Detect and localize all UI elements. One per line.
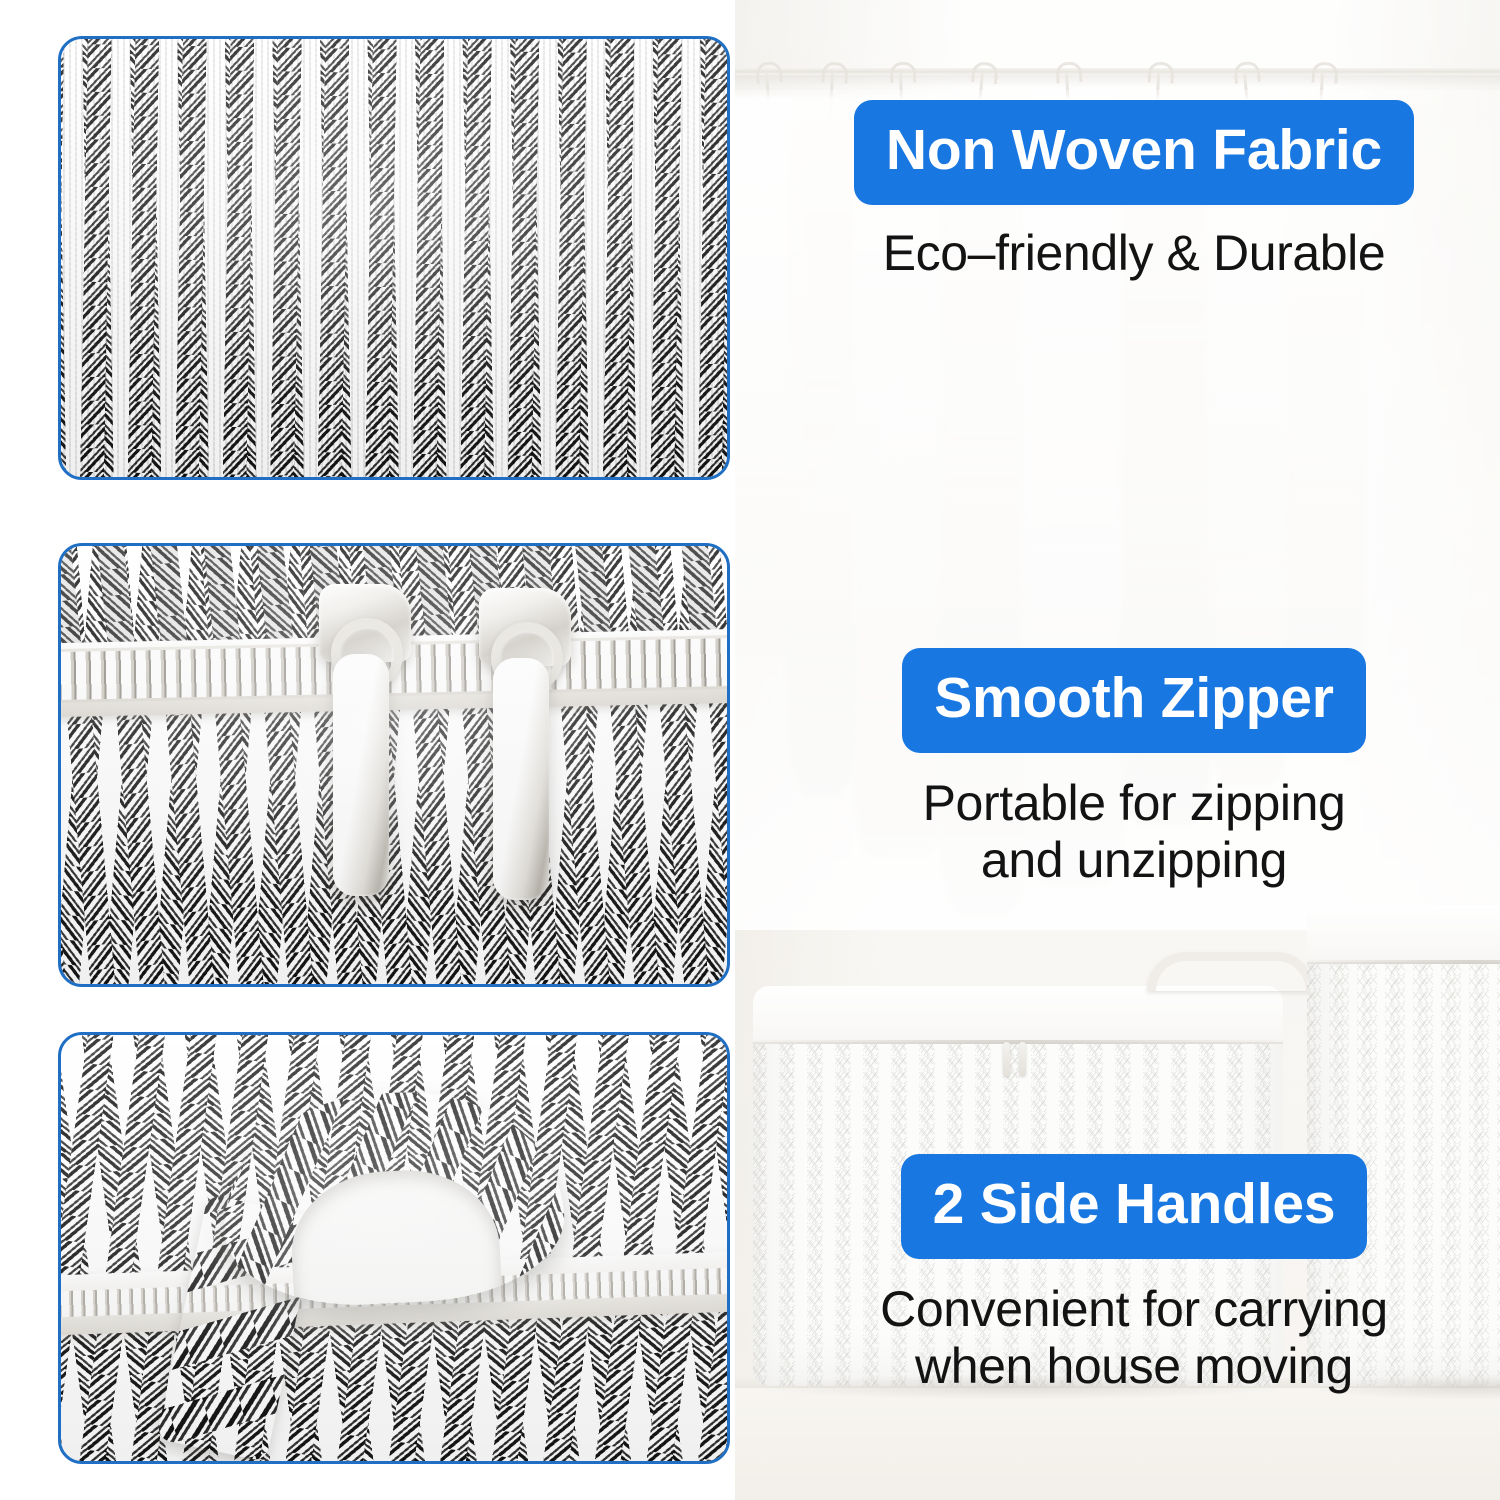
weave-grain [61,39,727,477]
storage-bag-zipper [1307,960,1500,964]
clothes-rail-shadow [735,75,1500,87]
feature-caption-fabric: Eco–friendly & Durable [800,225,1468,282]
feature-badge-fabric: Non Woven Fabric [854,100,1414,205]
feature-text-zipper: Smooth Zipper Portable for zipping and u… [800,648,1468,889]
feature-caption-zipper: Portable for zipping and unzipping [800,775,1468,889]
feature-photo-fabric [58,36,730,480]
feature-photo-handle [58,1032,730,1464]
feature-badge-zipper: Smooth Zipper [902,648,1366,753]
clothes-rail-icon [735,68,1500,75]
storage-bag-zipper-pull [1003,1042,1010,1076]
carry-handle-loop [218,1084,569,1312]
storage-bag-handle [1147,952,1315,991]
zipper-tab [333,654,389,896]
infographic-canvas: Non Woven Fabric Eco–friendly & Durable … [0,0,1500,1500]
storage-bag-lid [753,986,1283,1044]
feature-caption-handles: Convenient for carrying when house movin… [800,1281,1468,1395]
storage-bag-zipper-pull [1019,1042,1026,1076]
fabric-closeup-photo [61,39,727,477]
feature-badge-handles: 2 Side Handles [901,1154,1368,1259]
storage-bag-zipper [753,1040,1283,1044]
feature-text-handles: 2 Side Handles Convenient for carrying w… [800,1154,1468,1395]
shelf-base [735,1382,1500,1500]
zipper-tab [493,658,549,900]
handle-closeup-photo [61,1035,727,1461]
feature-photo-zipper [58,543,730,987]
zipper-closeup-photo [61,546,727,984]
storage-bag-lid [1307,906,1500,964]
feature-text-fabric: Non Woven Fabric Eco–friendly & Durable [800,100,1468,282]
